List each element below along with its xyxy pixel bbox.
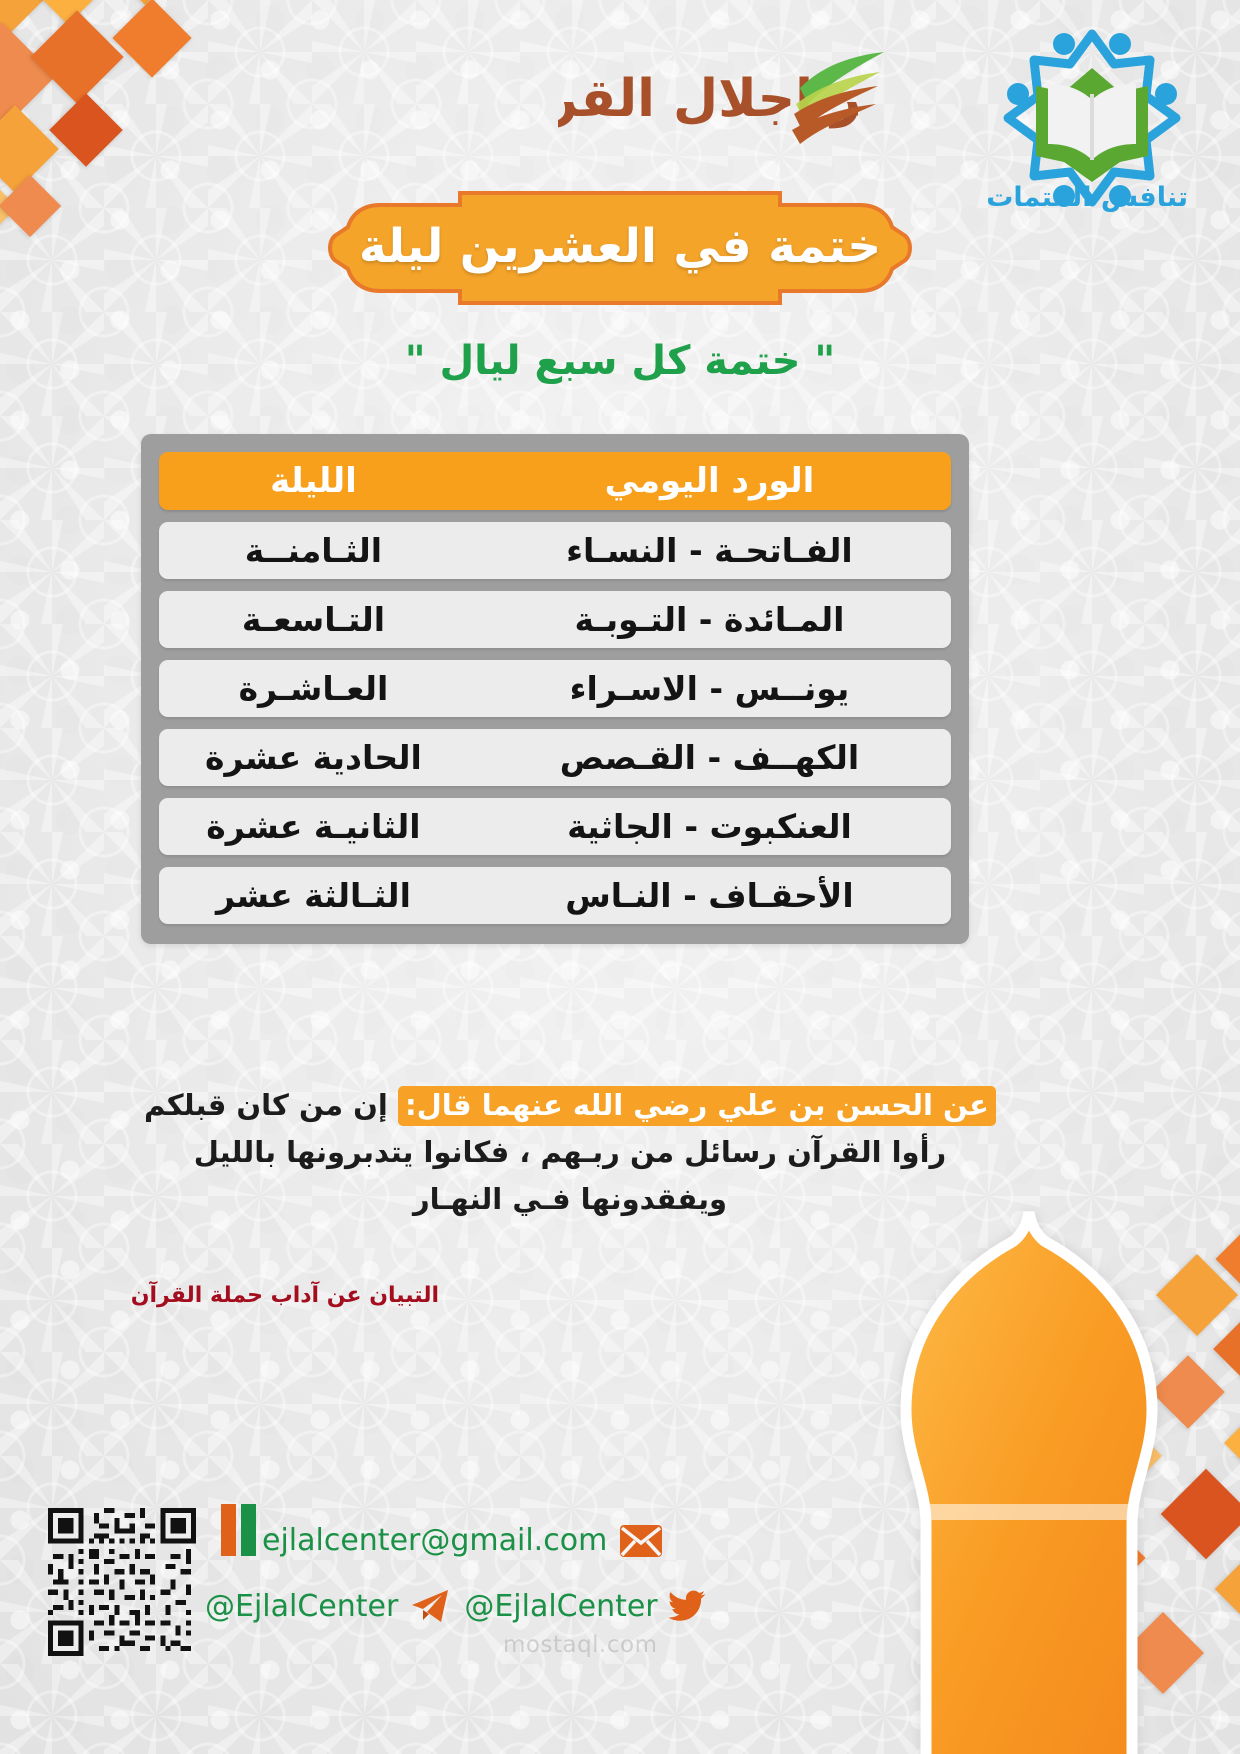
poster-title: ختمة في العشرين ليلة [320, 183, 920, 313]
quote-block: عن الحسن بن علي رضي الله عنهما قال: إن م… [128, 1082, 1012, 1223]
poster-canvas: مركز إجلال القرآني تنافس الختمات ختمة في… [0, 0, 1240, 1754]
column-header-night: الليلة [159, 452, 468, 510]
green-orange-bars-icon [218, 1504, 256, 1556]
table-row: الأحقـاف - النـاس الثـالثة عشر [159, 867, 951, 924]
table-row: الفـاتحـة - النسـاء الثـامنــة [159, 522, 951, 579]
ribbon-swoosh-icon [792, 48, 892, 148]
title-banner: ختمة في العشرين ليلة [320, 183, 920, 313]
quote-source: التبيان عن آداب حملة القرآن [131, 1283, 439, 1308]
cell-wird: يونــس - الاسـراء [468, 660, 951, 717]
envelope-icon [619, 1524, 663, 1558]
cell-night: الثـامنــة [159, 522, 468, 579]
telegram-handle[interactable]: @EjlalCenter [205, 1589, 398, 1624]
cell-wird: المـائدة - التـوبـة [468, 591, 951, 648]
brand-name: تنافس الختمات [998, 182, 1188, 213]
schedule-table: الورد اليومي الليلة الفـاتحـة - النسـاء … [141, 434, 969, 944]
cell-wird: الفـاتحـة - النسـاء [468, 522, 951, 579]
telegram-plane-icon[interactable] [408, 1588, 450, 1624]
cell-night: الثانيـة عشرة [159, 798, 468, 855]
table-row: العنكبوت - الجاثية الثانيـة عشرة [159, 798, 951, 855]
qr-code[interactable] [48, 1508, 196, 1656]
email-address[interactable]: ejlalcenter@gmail.com [262, 1523, 607, 1558]
table-row: الكهــف - القـصص الحادية عشرة [159, 729, 951, 786]
table-row: يونــس - الاسـراء العـاشـرة [159, 660, 951, 717]
twitter-bird-icon[interactable] [668, 1590, 706, 1622]
table-header-row: الورد اليومي الليلة [159, 452, 951, 510]
cell-wird: العنكبوت - الجاثية [468, 798, 951, 855]
cell-night: الثـالثة عشر [159, 867, 468, 924]
contact-email-row[interactable]: ejlalcenter@gmail.com [262, 1523, 663, 1558]
contact-social-row[interactable]: @EjlalCenter @EjlalCenter [205, 1588, 706, 1624]
cell-night: الحادية عشرة [159, 729, 468, 786]
twitter-handle[interactable]: @EjlalCenter [464, 1589, 657, 1624]
corner-mosaic-top-left [0, 0, 286, 314]
cell-wird: الأحقـاف - النـاس [468, 867, 951, 924]
table-row: المـائدة - التـوبـة التـاسعـة [159, 591, 951, 648]
cell-wird: الكهــف - القـصص [468, 729, 951, 786]
cell-night: العـاشـرة [159, 660, 468, 717]
watermark: mostaql.com [503, 1632, 658, 1658]
mosque-dome-silhouette [864, 1204, 1194, 1754]
poster-subtitle: " ختمة كل سبع ليال " [0, 338, 1240, 384]
column-header-wird: الورد اليومي [468, 452, 951, 510]
quote-attribution: عن الحسن بن علي رضي الله عنهما قال: [398, 1086, 996, 1126]
cell-night: التـاسعـة [159, 591, 468, 648]
